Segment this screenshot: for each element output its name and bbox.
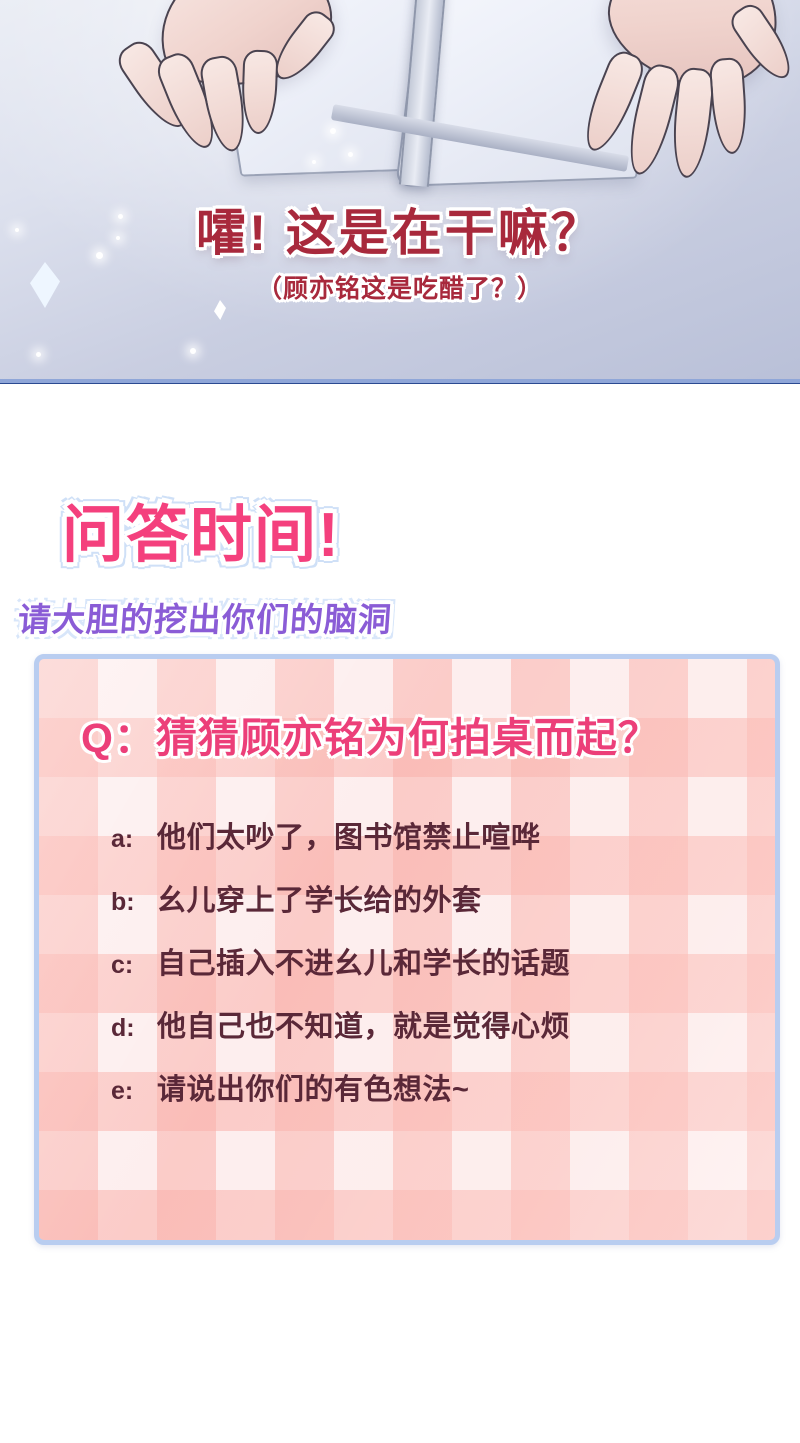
qa-subtitle: 请大胆的挖出你们的脑洞 <box>17 603 393 636</box>
options-list: a: 他们太吵了，图书馆禁止喧哗 b: 幺儿穿上了学长给的外套 c: 自己插入不… <box>111 814 751 1129</box>
option-key-b: b: <box>111 888 157 917</box>
left-hand-finger-index <box>241 49 279 134</box>
sparkle-dot-icon <box>36 352 41 357</box>
subheadline-text: （顾亦铭这是吃醋了？） <box>0 269 800 305</box>
headline-block: 嚯! 这是在干嘛？ （顾亦铭这是吃醋了？） <box>0 206 800 305</box>
qa-panel: 问答时间! 请大胆的挖出你们的脑洞 Q：猜猜顾亦铭为何拍桌而起？ a: 他们太吵… <box>0 391 800 1443</box>
option-key-a: a: <box>111 825 157 854</box>
option-key-c: c: <box>111 951 157 980</box>
option-key-e: e: <box>111 1077 157 1106</box>
sparkle-dot-icon <box>348 152 353 157</box>
right-hand-illustration <box>560 0 800 220</box>
sparkle-dot-icon <box>190 348 196 354</box>
option-row-e[interactable]: e: 请说出你们的有色想法~ <box>111 1066 751 1108</box>
panel-divider-bar <box>0 383 800 384</box>
option-text-a: 他们太吵了，图书馆禁止喧哗 <box>157 814 541 856</box>
option-row-d[interactable]: d: 他自己也不知道，就是觉得心烦 <box>111 1003 751 1045</box>
sparkle-dot-icon <box>312 160 316 164</box>
option-text-d: 他自己也不知道，就是觉得心烦 <box>157 1003 570 1045</box>
option-key-d: d: <box>111 1014 157 1043</box>
qa-gingham-card: Q：猜猜顾亦铭为何拍桌而起？ a: 他们太吵了，图书馆禁止喧哗 b: 幺儿穿上了… <box>34 654 780 1245</box>
option-row-a[interactable]: a: 他们太吵了，图书馆禁止喧哗 <box>111 814 751 856</box>
question-text: Q：猜猜顾亦铭为何拍桌而起？ <box>81 704 660 764</box>
right-hand-finger-index <box>709 57 750 155</box>
left-hand-illustration <box>118 0 358 180</box>
option-row-c[interactable]: c: 自己插入不进幺儿和学长的话题 <box>111 940 751 982</box>
qa-title: 问答时间! <box>62 505 341 567</box>
option-text-c: 自己插入不进幺儿和学长的话题 <box>157 940 570 982</box>
option-text-e: 请说出你们的有色想法~ <box>157 1066 469 1108</box>
top-illustration-panel: 嚯! 这是在干嘛？ （顾亦铭这是吃醋了？） <box>0 0 800 384</box>
option-row-b[interactable]: b: 幺儿穿上了学长给的外套 <box>111 877 751 919</box>
option-text-b: 幺儿穿上了学长给的外套 <box>157 877 482 919</box>
sparkle-dot-icon <box>330 128 336 134</box>
headline-text: 嚯! 这是在干嘛？ <box>0 206 800 261</box>
